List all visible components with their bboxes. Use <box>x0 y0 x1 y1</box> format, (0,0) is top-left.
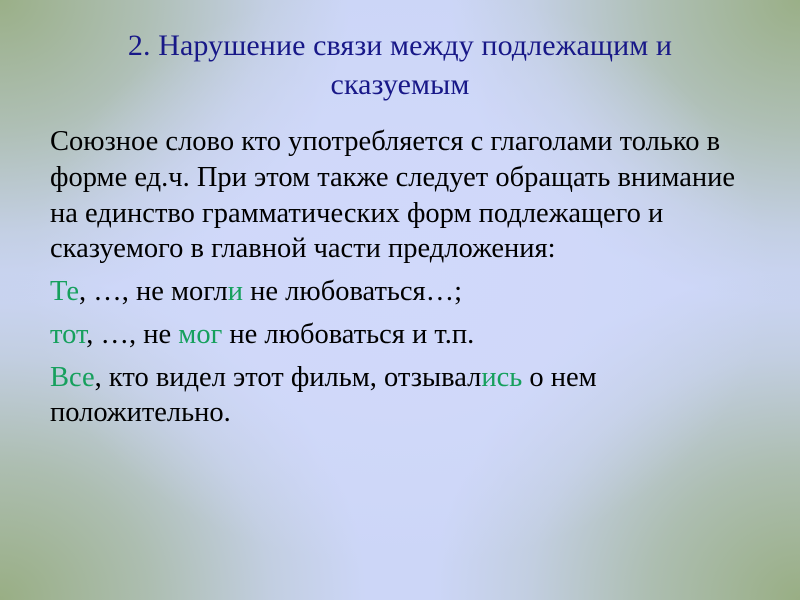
highlighted-text: Все <box>50 362 95 393</box>
plain-text: , кто видел этот фильм, отзывал <box>95 362 482 393</box>
slide-content: 2. Нарушение связи между подлежащим и ск… <box>0 0 800 600</box>
slide-body: Союзное слово кто употребляется с глагол… <box>44 124 756 431</box>
paragraph-example-1: Те, …, не могли не любоваться…; <box>50 274 756 310</box>
paragraph-example-3: Все, кто видел этот фильм, отзывались о … <box>50 360 756 432</box>
plain-text: не любоваться и т.п. <box>222 319 474 350</box>
presentation-slide: 2. Нарушение связи между подлежащим и ск… <box>0 0 800 600</box>
highlighted-text: ись <box>481 362 522 393</box>
paragraph-example-2: тот, …, не мог не любоваться и т.п. <box>50 317 756 353</box>
slide-title-line-1: 2. Нарушение связи между подлежащим и <box>128 29 672 62</box>
highlighted-text: тот <box>50 319 86 350</box>
highlighted-text: и <box>228 276 243 307</box>
slide-title-line-2: сказуемым <box>331 68 470 101</box>
plain-text: Союзное слово кто употребляется с глагол… <box>50 126 735 264</box>
plain-text: , …, не могл <box>79 276 228 307</box>
highlighted-text: Те <box>50 276 79 307</box>
plain-text: не любоваться…; <box>243 276 462 307</box>
plain-text: , …, не <box>86 319 178 350</box>
paragraph-rule: Союзное слово кто употребляется с глагол… <box>50 124 756 267</box>
highlighted-text: мог <box>178 319 222 350</box>
slide-title: 2. Нарушение связи между подлежащим и ск… <box>55 26 745 104</box>
